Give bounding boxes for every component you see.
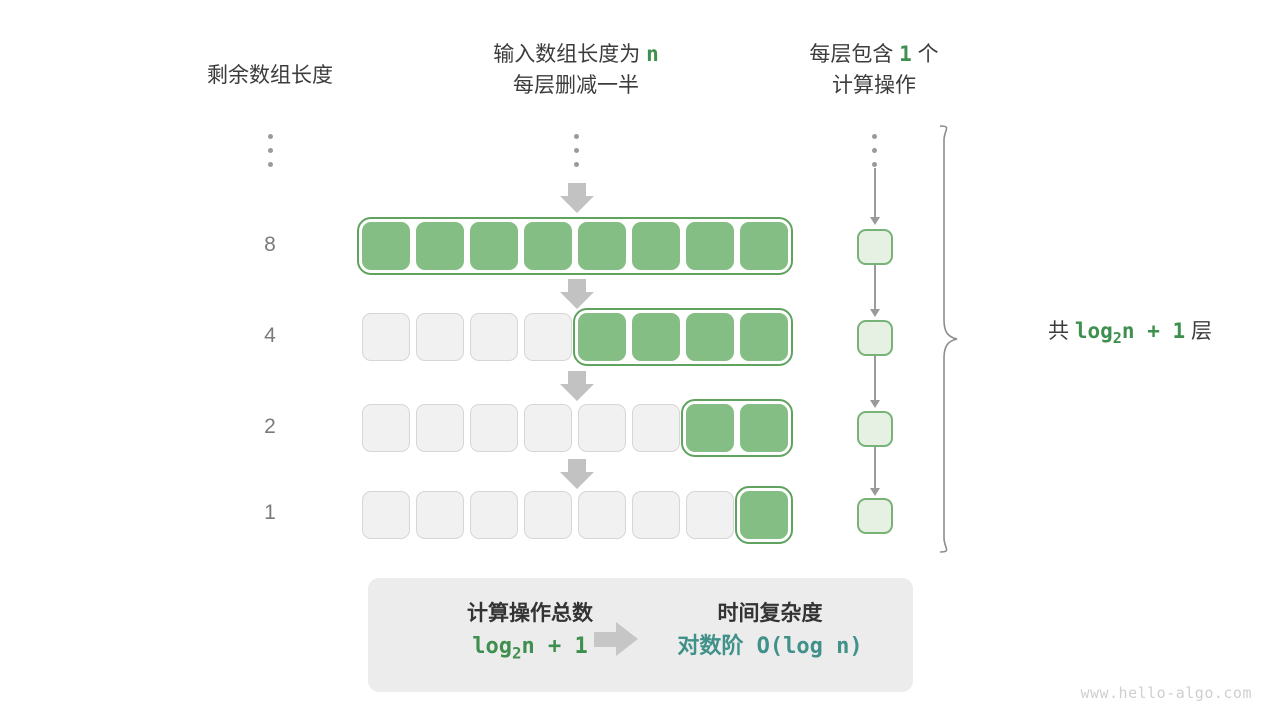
header-left-label: 剩余数组长度 (207, 64, 333, 87)
array-cell-active (470, 222, 518, 270)
dot (268, 148, 273, 153)
array-cell-removed (578, 404, 626, 452)
array-cell-removed (632, 491, 680, 539)
array-cell-active (578, 313, 626, 361)
header-right-var-1: 1 (899, 42, 912, 66)
header-middle: 输入数组长度为 n 每层删减一半 (426, 39, 726, 101)
level-count-suffix: 层 (1191, 320, 1212, 343)
dot (872, 148, 877, 153)
header-middle-line2: 每层删减一半 (426, 70, 726, 101)
array-cell-removed (362, 491, 410, 539)
op-connector-arrowhead-1 (870, 309, 880, 317)
op-connector-1 (874, 265, 876, 315)
watermark: www.hello-algo.com (1080, 684, 1252, 702)
array-cell-active (740, 404, 788, 452)
formula-base: 2 (1113, 329, 1122, 347)
summary-right-title: 时间复杂度 (620, 600, 920, 628)
dot (574, 162, 579, 167)
header-right: 每层包含 1 个 计算操作 (724, 39, 1024, 101)
header-middle-var-n: n (646, 42, 659, 66)
array-cell-removed (524, 404, 572, 452)
array-cell-active (740, 491, 788, 539)
halving-arrow-0 (560, 183, 594, 213)
op-box-1 (857, 320, 893, 356)
formula-log: log (1075, 319, 1113, 343)
array-cell-removed (470, 491, 518, 539)
level-count-label: 共 log2n + 1 层 (1000, 315, 1260, 347)
array-cell-removed (470, 404, 518, 452)
array-cell-active (686, 222, 734, 270)
op-box-0 (857, 229, 893, 265)
op-connector-3 (874, 447, 876, 493)
header-left: 剩余数组长度 (120, 60, 420, 91)
header-middle-line1-prefix: 输入数组长度为 (493, 43, 640, 66)
array-cell-active (416, 222, 464, 270)
header-middle-line1: 输入数组长度为 n (426, 39, 726, 70)
row-label-2: 2 (240, 415, 300, 439)
formula-rest: n + 1 (1122, 319, 1185, 343)
array-cell-active (362, 222, 410, 270)
summary-right-value: 对数阶 O(log n) (620, 628, 920, 666)
ellipsis-dots-right (869, 134, 879, 167)
header-right-line1: 每层包含 1 个 (724, 39, 1024, 70)
array-cell-active (740, 313, 788, 361)
array-cell-removed (416, 491, 464, 539)
array-cell-removed (524, 313, 572, 361)
header-right-line2: 计算操作 (724, 70, 1024, 101)
row-label-0: 8 (240, 233, 300, 257)
dot (574, 134, 579, 139)
op-connector-arrowhead-0 (870, 217, 880, 225)
op-connector-arrowhead-3 (870, 488, 880, 496)
dot (268, 134, 273, 139)
summary-formula-log: log (472, 634, 512, 659)
dot (872, 134, 877, 139)
array-row-1 (362, 313, 794, 367)
level-count-brace (938, 124, 964, 554)
op-box-3 (857, 498, 893, 534)
array-row-3 (362, 491, 794, 545)
op-connector-2 (874, 356, 876, 405)
array-cell-active (524, 222, 572, 270)
array-cell-removed (470, 313, 518, 361)
array-cell-removed (524, 491, 572, 539)
op-connector-0 (874, 168, 876, 220)
row-label-1: 4 (240, 324, 300, 348)
summary-formula-rest: n + 1 (522, 634, 588, 659)
ellipsis-dots-left (265, 134, 275, 167)
array-cell-active (578, 222, 626, 270)
array-cell-active (686, 404, 734, 452)
header-right-line1-prefix: 每层包含 (809, 43, 893, 66)
level-count-prefix: 共 (1048, 320, 1069, 343)
halving-arrow-1 (560, 279, 594, 309)
dot (268, 162, 273, 167)
array-cell-active (632, 313, 680, 361)
summary-right: 时间复杂度 对数阶 O(log n) (620, 600, 920, 666)
array-row-2 (362, 404, 794, 458)
array-cell-removed (416, 404, 464, 452)
op-connector-arrowhead-2 (870, 400, 880, 408)
array-cell-removed (362, 313, 410, 361)
header-right-line1-suffix: 个 (918, 43, 939, 66)
summary-arrow-icon (594, 622, 646, 656)
ellipsis-dots-middle (571, 134, 581, 167)
diagram-canvas: 剩余数组长度 输入数组长度为 n 每层删减一半 每层包含 1 个 计算操作 8 … (0, 0, 1280, 720)
array-cell-removed (362, 404, 410, 452)
array-cell-removed (578, 491, 626, 539)
array-cell-active (632, 222, 680, 270)
halving-arrow-2 (560, 371, 594, 401)
array-cell-active (740, 222, 788, 270)
summary-formula-base: 2 (512, 643, 522, 662)
array-cell-active (686, 313, 734, 361)
op-box-2 (857, 411, 893, 447)
array-cell-removed (686, 491, 734, 539)
dot (872, 162, 877, 167)
dot (574, 148, 579, 153)
halving-arrow-3 (560, 459, 594, 489)
array-cell-removed (632, 404, 680, 452)
level-count-formula: log2n + 1 (1075, 319, 1185, 343)
row-label-3: 1 (240, 501, 300, 525)
array-row-0 (362, 222, 794, 276)
array-cell-removed (416, 313, 464, 361)
